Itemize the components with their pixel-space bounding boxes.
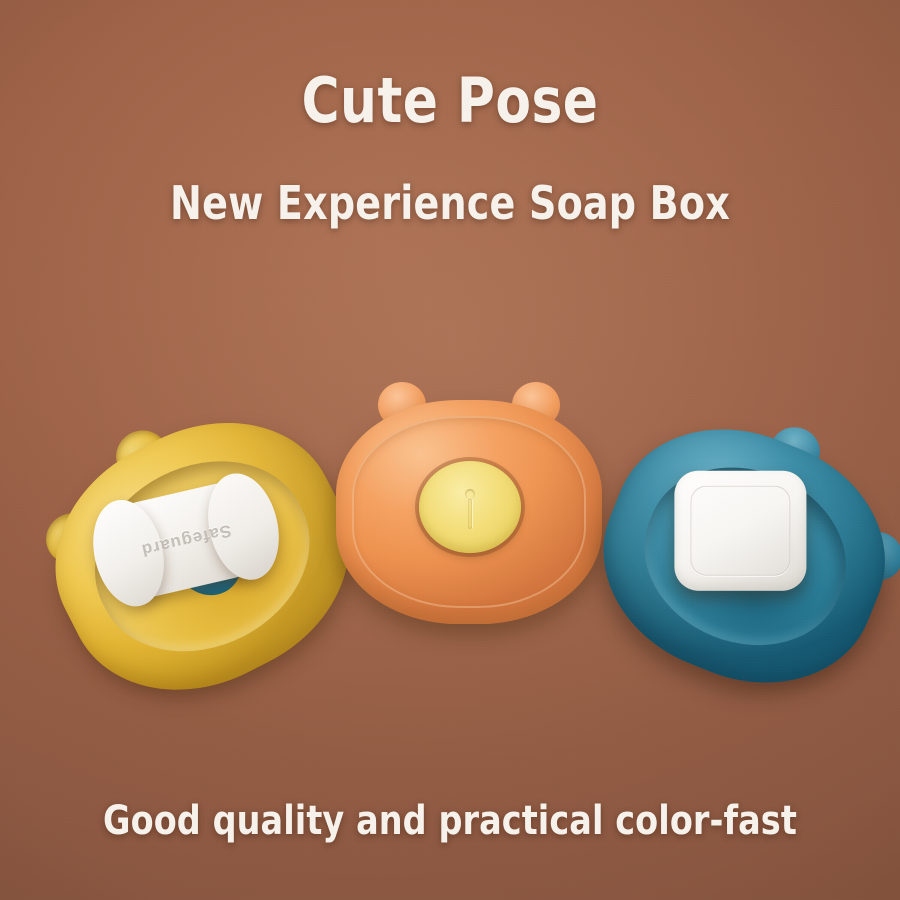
product-blue-soap-dish xyxy=(600,412,900,700)
orange-dish-body xyxy=(330,378,610,636)
blue-dish-body xyxy=(557,364,900,747)
soap-bar-square xyxy=(674,471,806,591)
footer-tagline: Good quality and practical color-fast xyxy=(32,798,869,844)
page-subtitle: New Experience Soap Box xyxy=(36,176,864,230)
product-yellow-soap-dish: Safeguard xyxy=(48,405,368,695)
page-title: Cute Pose xyxy=(32,64,869,137)
product-marketing-image: Safeguard xyxy=(0,0,900,900)
knob-keyhole-stem-icon xyxy=(468,499,472,529)
product-orange-soap-dish xyxy=(330,378,610,636)
